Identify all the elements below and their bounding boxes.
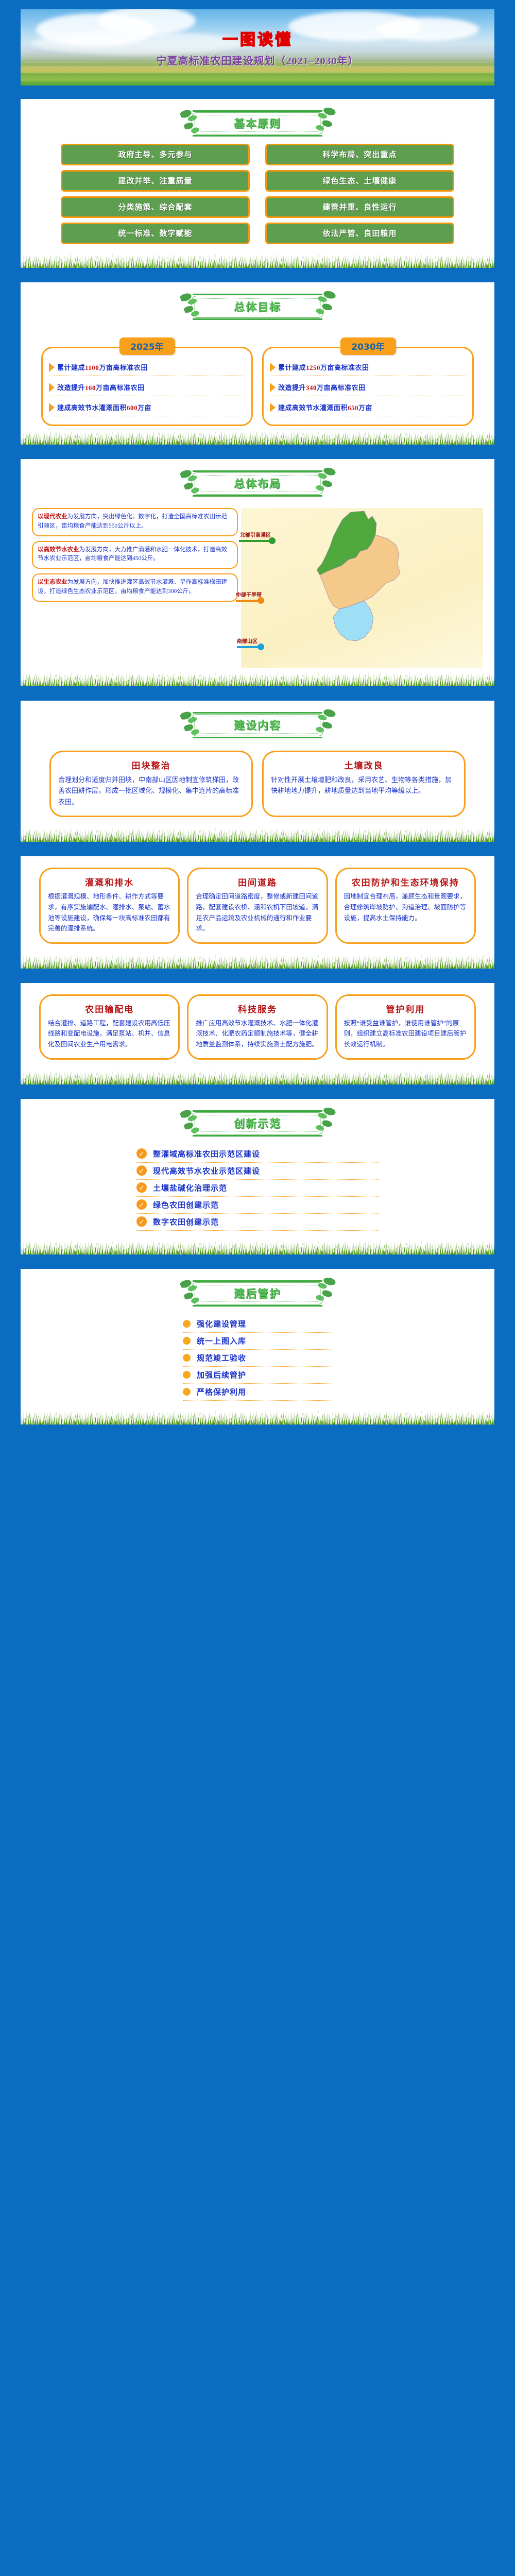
grass-decoration: [21, 429, 494, 445]
card-body: 结合灌排、道路工程，配套建设农用高低压线路和变配电设施，满足泵站、机井、信息化及…: [48, 1018, 171, 1050]
layout-box: 以现代农业为发展方向，突出绿色化、数字化，打造全国高标准农田示范引领区，亩均粮食…: [32, 508, 238, 536]
goals-columns: 2025年 累计建成1100万亩高标准农田 改造提升160万亩高标准农田: [21, 324, 494, 429]
banner-label: 创新示范: [180, 1115, 335, 1131]
card-body: 合理确定田间道路密度，整修或新建田间道路，配套建设农桥、涵和农机下田坡道，满足农…: [196, 891, 319, 934]
zone-leader-line: [239, 540, 272, 542]
principle-item[interactable]: 依法严管、良田粮用: [265, 223, 454, 244]
check-icon: ✓: [136, 1182, 147, 1193]
principle-item[interactable]: 建管并重、良性运行: [265, 196, 454, 218]
banner-bar-bottom: [193, 135, 322, 137]
goal-item-text: 改造提升160万亩高标准农田: [57, 382, 145, 392]
banner-label: 基本原则: [180, 115, 335, 131]
banner-bar-bottom: [193, 1305, 322, 1307]
grass-decoration: [21, 1069, 494, 1084]
page-title: 一图读懂: [21, 27, 494, 49]
card-title: 农田输配电: [48, 1002, 171, 1015]
principle-item[interactable]: 科学布局、突出重点: [265, 144, 454, 165]
content-card[interactable]: 土壤改良 针对性开展土壤增肥和改良，采用农艺、生物等各类措施，加快耕地地力提升，…: [262, 751, 466, 817]
section-title-innovation: 创新示范: [180, 1110, 335, 1137]
goal-item: 累计建成1250万亩高标准农田: [269, 360, 467, 376]
list-item-label: 现代高效节水农业示范区建设: [153, 1165, 260, 1176]
section-content-row2: 灌溉和排水 根据灌溉规模、地形条件、耕作方式等要求，有序实施输配水、灌排水、泵站…: [21, 856, 494, 969]
card-body: 推广应用高效节水灌溉技术、水肥一体化灌溉技术、化肥农药定额制施技术等，健全耕地质…: [196, 1018, 319, 1050]
chevron-right-icon: [270, 363, 276, 372]
section-content-row1: 建设内容 田块整治 合理划分和适度归并田块，中南部山区因地制宜修筑梯田，改善农田…: [21, 701, 494, 842]
list-item[interactable]: ✓ 绿色农田创建示范: [136, 1197, 379, 1214]
card-body: 因地制宜合理布局，兼顾生态和景观要求，合理修筑岸坡防护、沟道治理、坡面防护等设施…: [344, 891, 467, 923]
principles-grid: 政府主导、多元参与 科学布局、突出重点 建改并举、注重质量 绿色生态、土壤健康 …: [21, 141, 494, 252]
card-title: 灌溉和排水: [48, 875, 171, 888]
hero-banner: 一图读懂 宁夏高标准农田建设规划（2021–2030年）: [21, 9, 494, 86]
card-title: 土壤改良: [271, 758, 457, 771]
chevron-right-icon: [49, 363, 55, 372]
goal-box: 累计建成1250万亩高标准农田 改造提升340万亩高标准农田 建成高效节水灌溉面…: [262, 347, 474, 426]
list-item[interactable]: ✓ 土壤盐碱化治理示范: [136, 1180, 379, 1197]
section-title-principles: 基本原则: [180, 110, 335, 137]
section-goals: 总体目标 2025年 累计建成1100万亩高标准农田 改造提升160万亩高标准农…: [21, 282, 494, 445]
section-maintenance: 建后管护 强化建设管理 统一上图入库 规范竣工验收 加强后续管护 严格保护利用: [21, 1269, 494, 1425]
card-body: 根据灌溉规模、地形条件、耕作方式等要求，有序实施输配水、灌排水、泵站、蓄水池等设…: [48, 891, 171, 934]
content-card[interactable]: 管护利用 按照“谁受益谁管护，谁使用谁管护”的原则，组织建立高标准农田建设项目建…: [335, 994, 476, 1060]
card-body: 按照“谁受益谁管护，谁使用谁管护”的原则，组织建立高标准农田建设项目建后管护长效…: [344, 1018, 467, 1050]
check-icon: ✓: [136, 1165, 147, 1176]
goal-item: 累计建成1100万亩高标准农田: [48, 360, 246, 376]
grass-decoration: [21, 671, 494, 686]
content-cards-row1: 田块整治 合理划分和适度归并田块，中南部山区因地制宜修筑梯田，改善农田耕作层，形…: [21, 742, 494, 826]
zone-label-north: 北部引黄灌区: [240, 531, 271, 538]
list-item[interactable]: 统一上图入库: [183, 1333, 332, 1350]
page-subtitle: 宁夏高标准农田建设规划（2021–2030年）: [21, 53, 494, 67]
goal-year-badge: 2030年: [340, 337, 396, 355]
goal-item-text: 累计建成1100万亩高标准农田: [57, 362, 148, 372]
principle-item[interactable]: 绿色生态、土壤健康: [265, 170, 454, 192]
grass-decoration: [21, 252, 494, 268]
content-card[interactable]: 田间道路 合理确定田间道路密度，整修或新建田间道路，配套建设农桥、涵和农机下田坡…: [187, 868, 328, 944]
section-title-maintenance: 建后管护: [180, 1280, 335, 1307]
goal-column-2025: 2025年 累计建成1100万亩高标准农田 改造提升160万亩高标准农田: [41, 337, 253, 426]
content-card[interactable]: 科技服务 推广应用高效节水灌溉技术、水肥一体化灌溉技术、化肥农药定额制施技术等，…: [187, 994, 328, 1060]
banner-bar-top: [193, 1110, 322, 1112]
ningxia-map: 北部引黄灌区 中部干旱带 南部山区: [241, 508, 483, 668]
list-item[interactable]: 强化建设管理: [183, 1316, 332, 1333]
card-body: 针对性开展土壤增肥和改良，采用农艺、生物等各类措施，加快耕地地力提升，耕地质量达…: [271, 774, 457, 796]
list-item[interactable]: 规范竣工验收: [183, 1350, 332, 1367]
layout-text-boxes: 以现代农业为发展方向，突出绿色化、数字化，打造全国高标准农田示范引领区，亩均粮食…: [32, 508, 238, 668]
grass-decoration: [21, 1239, 494, 1255]
banner-bar-bottom: [193, 495, 322, 497]
map-svg: [241, 508, 483, 668]
section-title-goals: 总体目标: [180, 294, 335, 320]
chevron-right-icon: [49, 403, 55, 412]
list-item-label: 规范竣工验收: [197, 1352, 246, 1363]
banner-bar-top: [193, 470, 322, 472]
banner-label: 总体布局: [180, 476, 335, 491]
banner-label: 总体目标: [180, 299, 335, 314]
check-icon: ✓: [136, 1199, 147, 1210]
chevron-right-icon: [49, 383, 55, 392]
zone-marker-dot: [257, 643, 264, 650]
principle-item[interactable]: 分类施策、综合配套: [61, 196, 250, 218]
banner-bar-bottom: [193, 737, 322, 738]
grass-decoration: [21, 826, 494, 842]
card-title: 管护利用: [344, 1002, 467, 1015]
banner-label: 建后管护: [180, 1285, 335, 1301]
grass-decoration: [21, 953, 494, 969]
goal-item-text: 累计建成1250万亩高标准农田: [278, 362, 369, 372]
banner-bar-top: [193, 294, 322, 295]
content-cards-row3: 农田输配电 结合灌排、道路工程，配套建设农用高低压线路和变配电设施，满足泵站、机…: [21, 983, 494, 1069]
list-item[interactable]: ✓ 现代高效节水农业示范区建设: [136, 1163, 379, 1180]
section-title-layout: 总体布局: [180, 470, 335, 497]
section-innovation: 创新示范 ✓ 整灌域高标准农田示范区建设 ✓ 现代高效节水农业示范区建设 ✓ 土…: [21, 1099, 494, 1255]
principle-item[interactable]: 统一标准、数字赋能: [61, 223, 250, 244]
grass-decoration: [21, 1409, 494, 1425]
goal-item-text: 改造提升340万亩高标准农田: [278, 382, 366, 392]
bullet-dot-icon: [183, 1354, 191, 1362]
check-icon: ✓: [136, 1216, 147, 1227]
banner-label: 建设内容: [180, 717, 335, 733]
section-principles: 基本原则 政府主导、多元参与 科学布局、突出重点 建改并举、注重质量 绿色生态、…: [21, 99, 494, 268]
bullet-dot-icon: [183, 1337, 191, 1345]
card-body: 合理划分和适度归并田块，中南部山区因地制宜修筑梯田，改善农田耕作层，形成一批区域…: [58, 774, 244, 807]
chevron-right-icon: [270, 403, 276, 412]
goal-item: 改造提升160万亩高标准农田: [48, 380, 246, 396]
section-content-row3: 农田输配电 结合灌排、道路工程，配套建设农用高低压线路和变配电设施，满足泵站、机…: [21, 983, 494, 1084]
content-card[interactable]: 农田输配电 结合灌排、道路工程，配套建设农用高低压线路和变配电设施，满足泵站、机…: [39, 994, 180, 1060]
content-card[interactable]: 农田防护和生态环境保持 因地制宜合理布局，兼顾生态和景观要求，合理修筑岸坡防护、…: [335, 868, 476, 944]
check-icon: ✓: [136, 1148, 147, 1159]
banner-bar-bottom: [193, 318, 322, 320]
layout-body: 以现代农业为发展方向，突出绿色化、数字化，打造全国高标准农田示范引领区，亩均粮食…: [21, 501, 494, 671]
content-cards-row2: 灌溉和排水 根据灌溉规模、地形条件、耕作方式等要求，有序实施输配水、灌排水、泵站…: [21, 856, 494, 953]
list-item[interactable]: 加强后续管护: [183, 1367, 332, 1384]
zone-label-central: 中部干旱带: [236, 590, 262, 598]
layout-box-highlight: 以高效节水农业: [38, 547, 79, 553]
bullet-dot-icon: [183, 1388, 191, 1396]
layout-box: 以高效节水农业为发展方向，大力推广滴灌和水肥一体化技术，打造高效节水农业示范区，…: [32, 541, 238, 569]
list-item-label: 加强后续管护: [197, 1369, 246, 1380]
layout-box-highlight: 以生态农业: [38, 579, 67, 585]
innovation-list: ✓ 整灌域高标准农田示范区建设 ✓ 现代高效节水农业示范区建设 ✓ 土壤盐碱化治…: [21, 1141, 494, 1239]
goal-item: 改造提升340万亩高标准农田: [269, 380, 467, 396]
list-item[interactable]: 严格保护利用: [183, 1384, 332, 1401]
list-item-label: 统一上图入库: [197, 1335, 246, 1346]
card-title: 科技服务: [196, 1002, 319, 1015]
list-item-label: 绿色农田创建示范: [153, 1199, 219, 1210]
card-title: 田间道路: [196, 875, 319, 888]
section-layout: 总体布局 以现代农业为发展方向，突出绿色化、数字化，打造全国高标准农田示范引领区…: [21, 459, 494, 686]
list-item-label: 整灌域高标准农田示范区建设: [153, 1148, 260, 1159]
goal-item: 建成高效节水灌溉面积650万亩: [269, 400, 467, 416]
maintenance-list: 强化建设管理 统一上图入库 规范竣工验收 加强后续管护 严格保护利用: [21, 1311, 494, 1409]
layout-box-highlight: 以现代农业: [38, 514, 67, 520]
principle-item[interactable]: 建改并举、注重质量: [61, 170, 250, 192]
list-item-label: 严格保护利用: [197, 1386, 246, 1397]
field-strip: [21, 68, 494, 71]
content-card[interactable]: 灌溉和排水 根据灌溉规模、地形条件、耕作方式等要求，有序实施输配水、灌排水、泵站…: [39, 868, 180, 944]
banner-bar-bottom: [193, 1135, 322, 1137]
banner-bar-top: [193, 110, 322, 112]
field-strip: [21, 78, 494, 81]
bullet-dot-icon: [183, 1320, 191, 1328]
chevron-right-icon: [270, 383, 276, 392]
list-item-label: 强化建设管理: [197, 1318, 246, 1329]
banner-bar-top: [193, 712, 322, 714]
field-strip: [21, 73, 494, 76]
card-title: 田块整治: [58, 758, 244, 771]
list-item-label: 数字农田创建示范: [153, 1216, 219, 1227]
goal-year-badge: 2025年: [119, 337, 175, 355]
card-title: 农田防护和生态环境保持: [344, 875, 467, 888]
zone-label-south: 南部山区: [237, 637, 257, 645]
list-item-label: 土壤盐碱化治理示范: [153, 1182, 227, 1193]
goal-item-text: 建成高效节水灌溉面积650万亩: [278, 402, 372, 412]
list-item[interactable]: ✓ 数字农田创建示范: [136, 1214, 379, 1231]
goal-item: 建成高效节水灌溉面积600万亩: [48, 400, 246, 416]
principle-item[interactable]: 政府主导、多元参与: [61, 144, 250, 165]
section-title-content: 建设内容: [180, 712, 335, 738]
content-card[interactable]: 田块整治 合理划分和适度归并田块，中南部山区因地制宜修筑梯田，改善农田耕作层，形…: [49, 751, 253, 817]
goal-box: 累计建成1100万亩高标准农田 改造提升160万亩高标准农田 建成高效节水灌溉面…: [41, 347, 253, 426]
layout-box: 以生态农业为发展方向，加快推进灌区高效节水灌溉、旱作高标准梯田建设，打造绿色生态…: [32, 573, 238, 602]
map-canvas: 北部引黄灌区 中部干旱带 南部山区: [241, 508, 483, 668]
goal-item-text: 建成高效节水灌溉面积600万亩: [57, 402, 151, 412]
banner-bar-top: [193, 1280, 322, 1282]
list-item[interactable]: ✓ 整灌域高标准农田示范区建设: [136, 1146, 379, 1163]
goal-column-2030: 2030年 累计建成1250万亩高标准农田 改造提升340万亩高标准农田: [262, 337, 474, 426]
bullet-dot-icon: [183, 1371, 191, 1379]
